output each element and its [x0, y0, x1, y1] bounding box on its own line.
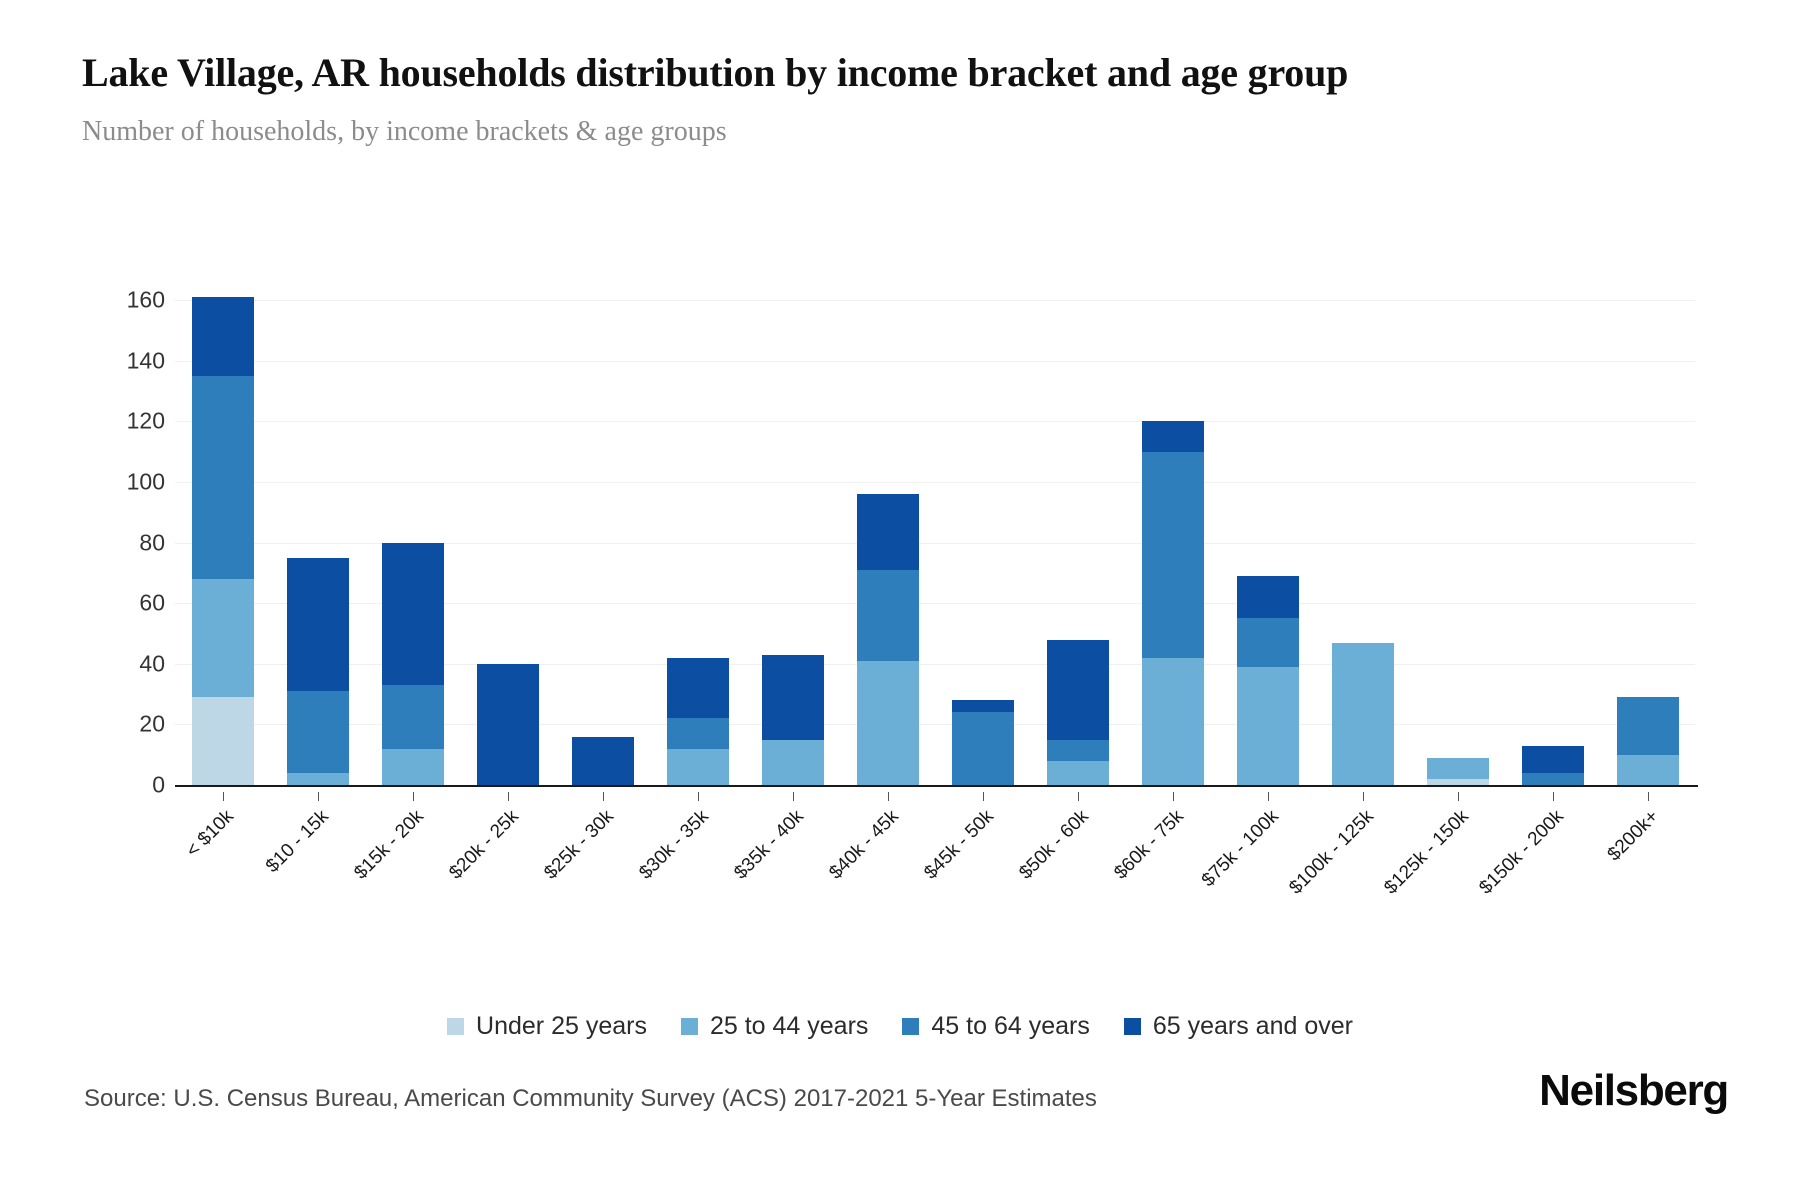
- legend-item[interactable]: 65 years and over: [1124, 1012, 1353, 1041]
- legend-item[interactable]: 45 to 64 years: [902, 1012, 1089, 1041]
- legend-label: 25 to 44 years: [710, 1012, 868, 1041]
- y-tick-label: 20: [139, 711, 165, 738]
- chart-subtitle: Number of households, by income brackets…: [82, 116, 1722, 148]
- bar-stack[interactable]: [1332, 643, 1394, 785]
- x-tick-mark: [1648, 792, 1649, 801]
- bar-segment[interactable]: [667, 658, 729, 719]
- bar-stack[interactable]: [382, 543, 444, 786]
- source-note: Source: U.S. Census Bureau, American Com…: [84, 1085, 1097, 1113]
- bar-segment[interactable]: [952, 700, 1014, 712]
- y-axis: 020406080100120140160: [85, 300, 165, 785]
- bar-stack[interactable]: [952, 700, 1014, 785]
- bar-group[interactable]: [365, 300, 460, 785]
- bar-segment[interactable]: [382, 749, 444, 785]
- bar-group[interactable]: [460, 300, 555, 785]
- y-tick-label: 100: [127, 468, 165, 495]
- bar-segment[interactable]: [857, 570, 919, 661]
- x-label-cell: $35k - 40k: [745, 792, 840, 912]
- x-tick-mark: [318, 792, 319, 801]
- bar-stack[interactable]: [1427, 758, 1489, 785]
- bar-group[interactable]: [1125, 300, 1220, 785]
- bar-segment[interactable]: [1142, 658, 1204, 785]
- x-label-cell: $10 - 15k: [270, 792, 365, 912]
- bar-stack[interactable]: [667, 658, 729, 785]
- bar-segment[interactable]: [857, 661, 919, 785]
- x-axis-labels: < $10k$10 - 15k$15k - 20k$20k - 25k$25k …: [175, 792, 1695, 912]
- plot-area: [175, 300, 1695, 785]
- bar-stack[interactable]: [1047, 640, 1109, 786]
- bar-segment[interactable]: [1047, 761, 1109, 785]
- bar-stack[interactable]: [572, 737, 634, 786]
- bar-segment[interactable]: [667, 718, 729, 748]
- x-label-cell: $45k - 50k: [935, 792, 1030, 912]
- x-tick-label: $10 - 15k: [261, 806, 333, 878]
- x-tick-mark: [223, 792, 224, 801]
- bar-segment[interactable]: [192, 697, 254, 785]
- x-label-cell: $25k - 30k: [555, 792, 650, 912]
- bar-stack[interactable]: [1617, 697, 1679, 785]
- chart-header: Lake Village, AR households distribution…: [82, 48, 1722, 148]
- x-tick-mark: [793, 792, 794, 801]
- bar-segment[interactable]: [1332, 643, 1394, 785]
- bar-segment[interactable]: [667, 749, 729, 785]
- bar-group[interactable]: [935, 300, 1030, 785]
- bar-segment[interactable]: [857, 494, 919, 570]
- bar-segment[interactable]: [1142, 452, 1204, 658]
- x-tick-mark: [1268, 792, 1269, 801]
- bar-group[interactable]: [1410, 300, 1505, 785]
- y-tick-label: 160: [127, 287, 165, 314]
- y-tick-label: 120: [127, 408, 165, 435]
- bar-segment[interactable]: [287, 558, 349, 691]
- legend-label: 65 years and over: [1153, 1012, 1353, 1041]
- legend-swatch-icon: [681, 1018, 698, 1035]
- chart-legend: Under 25 years25 to 44 years45 to 64 yea…: [0, 1012, 1800, 1041]
- bar-group[interactable]: [840, 300, 935, 785]
- x-tick-label: $200k+: [1603, 806, 1663, 866]
- bar-group[interactable]: [1030, 300, 1125, 785]
- page-title: Lake Village, AR households distribution…: [82, 48, 1662, 98]
- x-label-cell: < $10k: [175, 792, 270, 912]
- bar-segment[interactable]: [952, 712, 1014, 785]
- bar-segment[interactable]: [762, 655, 824, 740]
- bar-segment[interactable]: [287, 773, 349, 785]
- x-tick-mark: [1458, 792, 1459, 801]
- bar-stack[interactable]: [762, 655, 824, 785]
- bar-group[interactable]: [175, 300, 270, 785]
- x-tick-mark: [983, 792, 984, 801]
- x-tick-mark: [1078, 792, 1079, 801]
- bar-stack[interactable]: [1237, 576, 1299, 785]
- bar-segment[interactable]: [1617, 755, 1679, 785]
- bar-group[interactable]: [1315, 300, 1410, 785]
- legend-swatch-icon: [1124, 1018, 1141, 1035]
- bar-segment[interactable]: [192, 297, 254, 376]
- bar-segment[interactable]: [1237, 667, 1299, 785]
- bar-segment[interactable]: [1522, 773, 1584, 785]
- x-label-cell: $40k - 45k: [840, 792, 935, 912]
- bar-segment[interactable]: [477, 664, 539, 785]
- bar-segment[interactable]: [1427, 758, 1489, 779]
- bar-segment[interactable]: [287, 691, 349, 773]
- x-label-cell: $50k - 60k: [1030, 792, 1125, 912]
- x-tick-mark: [698, 792, 699, 801]
- x-tick-mark: [413, 792, 414, 801]
- bar-segment[interactable]: [192, 579, 254, 697]
- bar-segment[interactable]: [1142, 421, 1204, 451]
- bar-stack[interactable]: [477, 664, 539, 785]
- bar-segment[interactable]: [1047, 640, 1109, 740]
- x-label-cell: $20k - 25k: [460, 792, 555, 912]
- x-tick-mark: [603, 792, 604, 801]
- legend-item[interactable]: Under 25 years: [447, 1012, 647, 1041]
- x-tick-mark: [508, 792, 509, 801]
- x-label-cell: $15k - 20k: [365, 792, 460, 912]
- bar-segment[interactable]: [572, 737, 634, 786]
- x-label-cell: $60k - 75k: [1125, 792, 1220, 912]
- bar-segment[interactable]: [1237, 618, 1299, 667]
- bar-group[interactable]: [1600, 300, 1695, 785]
- x-tick-mark: [888, 792, 889, 801]
- bar-group[interactable]: [1220, 300, 1315, 785]
- bar-group[interactable]: [270, 300, 365, 785]
- legend-item[interactable]: 25 to 44 years: [681, 1012, 868, 1041]
- legend-label: 45 to 64 years: [931, 1012, 1089, 1041]
- x-axis-line: [175, 785, 1698, 787]
- x-tick-mark: [1173, 792, 1174, 801]
- bar-segment[interactable]: [192, 376, 254, 579]
- bar-segment[interactable]: [1047, 740, 1109, 761]
- bar-segment[interactable]: [382, 543, 444, 685]
- x-label-cell: $200k+: [1600, 792, 1695, 912]
- bar-segment[interactable]: [1522, 746, 1584, 773]
- y-tick-label: 40: [139, 650, 165, 677]
- bar-segment[interactable]: [382, 685, 444, 749]
- legend-label: Under 25 years: [476, 1012, 647, 1041]
- bar-group[interactable]: [745, 300, 840, 785]
- bar-stack[interactable]: [1142, 421, 1204, 785]
- legend-swatch-icon: [447, 1018, 464, 1035]
- bar-group[interactable]: [1505, 300, 1600, 785]
- bar-stack[interactable]: [1522, 746, 1584, 785]
- y-tick-label: 60: [139, 590, 165, 617]
- y-tick-label: 0: [152, 772, 165, 799]
- bar-stack[interactable]: [287, 558, 349, 785]
- bar-series-container: [175, 300, 1695, 785]
- bar-segment[interactable]: [762, 740, 824, 785]
- x-tick-mark: [1553, 792, 1554, 801]
- x-tick-mark: [1363, 792, 1364, 801]
- x-label-cell: $150k - 200k: [1505, 792, 1600, 912]
- legend-swatch-icon: [902, 1018, 919, 1035]
- bar-segment[interactable]: [1237, 576, 1299, 618]
- bar-segment[interactable]: [1617, 697, 1679, 755]
- bar-stack[interactable]: [857, 494, 919, 785]
- y-tick-label: 80: [139, 529, 165, 556]
- y-tick-label: 140: [127, 347, 165, 374]
- bar-group[interactable]: [650, 300, 745, 785]
- x-tick-label: < $10k: [182, 806, 238, 862]
- bar-group[interactable]: [555, 300, 650, 785]
- bar-stack[interactable]: [192, 297, 254, 785]
- x-label-cell: $30k - 35k: [650, 792, 745, 912]
- brand-logo: Neilsberg: [1539, 1066, 1728, 1116]
